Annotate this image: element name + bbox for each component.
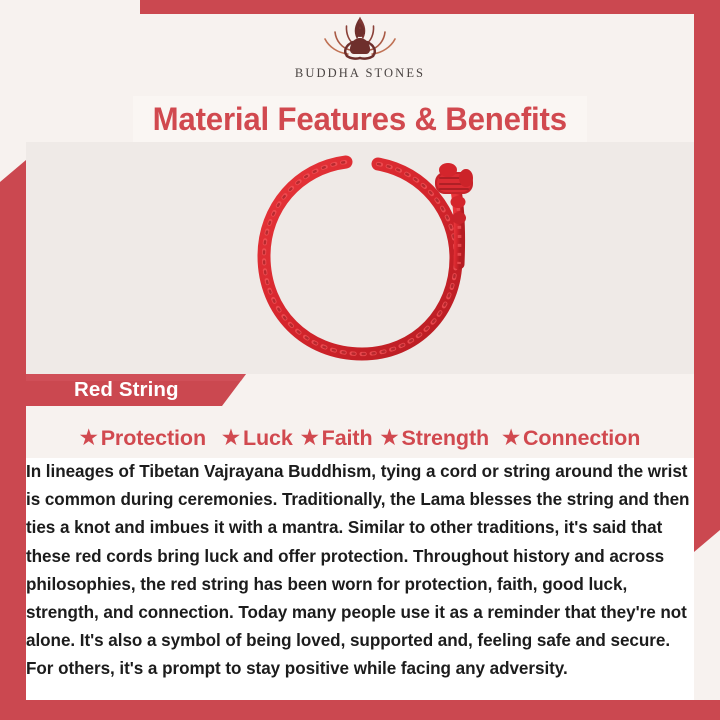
description-panel: In lineages of Tibetan Vajrayana Buddhis… <box>26 458 694 700</box>
feature-faith: ★ Faith <box>300 426 374 451</box>
title-banner: Material Features & Benefits <box>133 96 587 142</box>
brand-header: BUDDHA STONES <box>0 14 720 96</box>
feature-label: Strength <box>401 426 489 451</box>
product-label: Red String <box>74 374 179 406</box>
star-icon: ★ <box>301 428 319 448</box>
feature-label: Protection <box>101 426 206 451</box>
product-label-banner: Red String <box>26 374 246 406</box>
feature-label: Luck <box>243 426 293 451</box>
page-title: Material Features & Benefits <box>153 101 567 138</box>
infographic-page: BUDDHA STONES Material Features & Benefi… <box>0 0 720 720</box>
left-red-band <box>0 182 26 700</box>
lotus-meditation-icon <box>318 14 402 64</box>
top-red-band <box>140 0 720 14</box>
description-text: In lineages of Tibetan Vajrayana Buddhis… <box>26 458 694 684</box>
feature-protection: ★ Protection <box>79 426 207 451</box>
feature-label: Connection <box>523 426 640 451</box>
star-icon: ★ <box>222 428 240 448</box>
bottom-red-band <box>0 700 720 720</box>
feature-connection: ★ Connection <box>501 426 641 451</box>
star-icon: ★ <box>502 428 520 448</box>
brand-name: BUDDHA STONES <box>295 66 425 81</box>
red-braided-string-bracelet-image <box>210 142 510 374</box>
feature-luck: ★ Luck <box>221 426 294 451</box>
right-band-tip <box>694 530 720 552</box>
feature-label: Faith <box>322 426 373 451</box>
star-icon: ★ <box>80 428 98 448</box>
star-icon: ★ <box>381 428 399 448</box>
features-row: ★ Protection ★ Luck ★ Faith ★ Strength ★… <box>26 418 694 458</box>
product-image-panel <box>26 142 694 374</box>
feature-strength: ★ Strength <box>380 426 491 451</box>
left-band-tip <box>0 160 26 182</box>
